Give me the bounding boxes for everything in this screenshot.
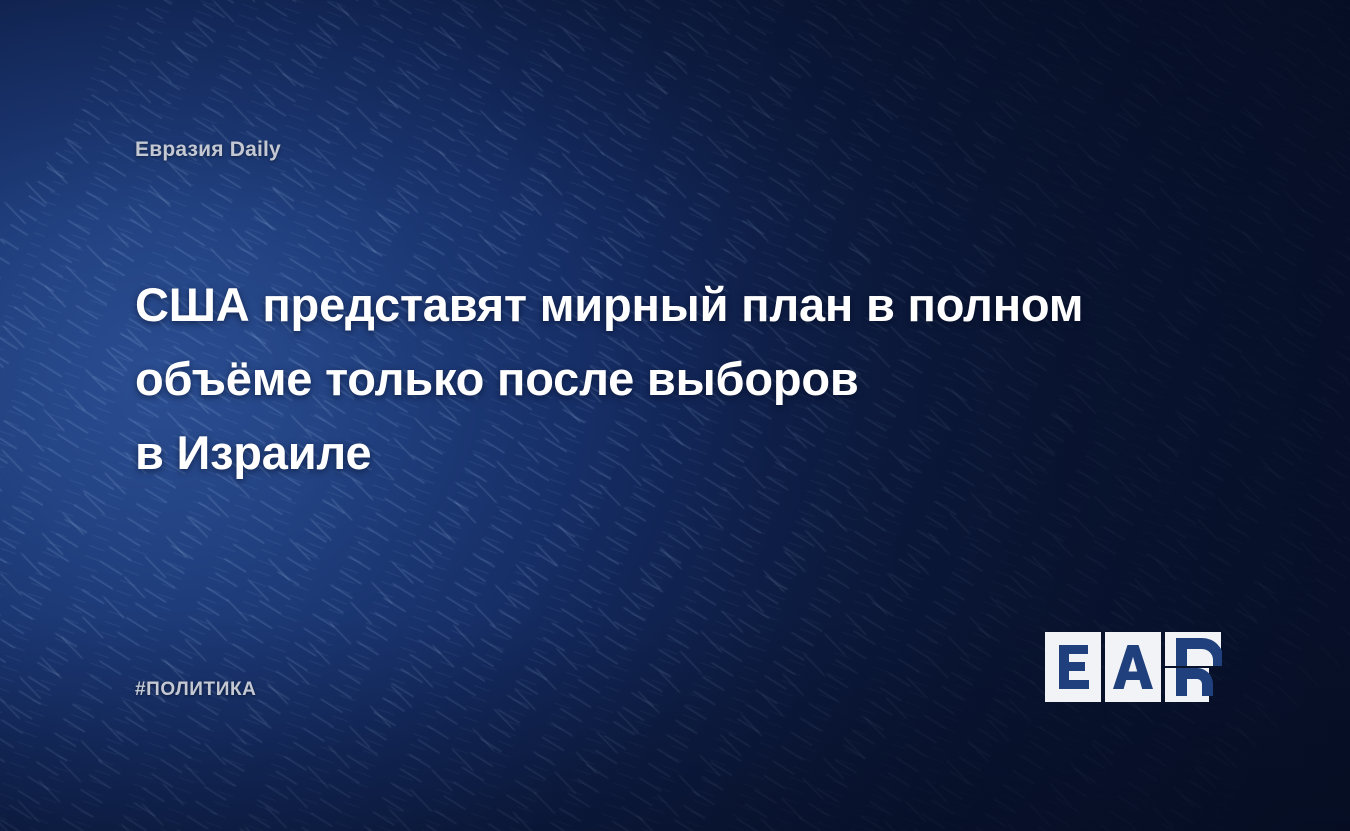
letter-e-icon <box>1045 632 1101 702</box>
headline-line-1: США представят мирный план в полном <box>135 268 1250 342</box>
headline: США представят мирный план в полном объё… <box>135 268 1250 490</box>
letter-a-icon <box>1105 632 1161 702</box>
headline-line-2: объёме только после выборов <box>135 342 1250 416</box>
brand-name: Евразия Daily <box>135 138 281 162</box>
letter-d-icon <box>1165 632 1222 702</box>
headline-line-3: в Израиле <box>135 416 1250 490</box>
news-card: Евразия Daily США представят мирный план… <box>0 0 1350 831</box>
logo-tile-d <box>1165 632 1222 702</box>
card-content: Евразия Daily США представят мирный план… <box>0 0 1350 831</box>
logo-tile-a <box>1105 632 1161 702</box>
category-hashtag[interactable]: #ПОЛИТИКА <box>135 679 257 701</box>
logo-tile-e <box>1045 632 1101 702</box>
eadaily-logo[interactable] <box>1045 632 1222 702</box>
